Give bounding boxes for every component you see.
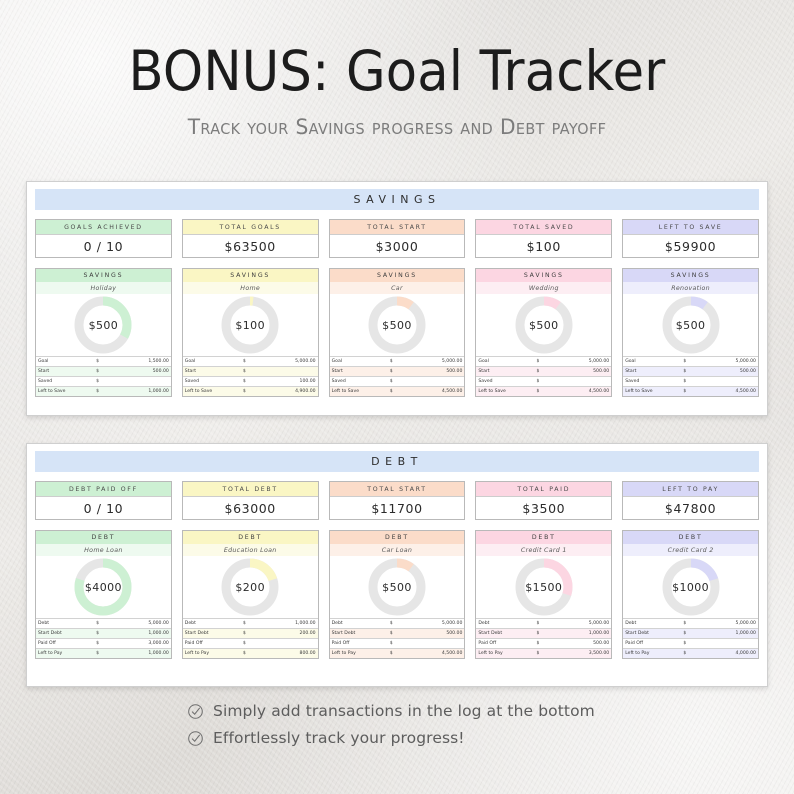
row-currency: $: [535, 377, 554, 387]
donut-center-amount: $500: [366, 556, 428, 618]
row-amount: 5,000.00: [553, 357, 611, 367]
debt-cards-row: DEBTHome Loan$4000Debt$5,000.00Start Deb…: [35, 530, 759, 659]
row-label: Goal: [330, 357, 388, 367]
donut-chart: $100: [219, 294, 281, 356]
debt-panel: DEBT DEBT PAID OFF0 / 10TOTAL DEBT$63000…: [26, 443, 768, 687]
savings-summary-row: GOALS ACHIEVED0 / 10TOTAL GOALS$63500TOT…: [35, 219, 759, 258]
donut-chart: $200: [219, 556, 281, 618]
row-label: Left to Pay: [476, 649, 534, 659]
row-currency: $: [94, 639, 113, 649]
goal-card-credit-card-2: DEBTCredit Card 2$1000Debt$5,000.00Start…: [622, 530, 759, 659]
donut-chart-wrap: $100: [183, 294, 318, 356]
row-currency: $: [535, 367, 554, 377]
goal-card-home-loan: DEBTHome Loan$4000Debt$5,000.00Start Deb…: [35, 530, 172, 659]
row-label: Goal: [476, 357, 534, 367]
row-amount: 1,000.00: [700, 629, 758, 639]
donut-chart: $500: [366, 294, 428, 356]
row-currency: $: [241, 649, 260, 659]
row-currency: $: [388, 357, 407, 367]
row-label: Goal: [183, 357, 241, 367]
row-amount: 4,500.00: [553, 387, 611, 397]
row-amount: 4,500.00: [406, 387, 464, 397]
summary-card-value: $63500: [183, 235, 318, 257]
table-row: Left to Pay$4,000.00: [623, 649, 758, 659]
table-row: Left to Save$4,900.00: [183, 387, 318, 397]
table-row: Start Debt$1,000.00: [36, 629, 171, 639]
check-circle-icon: [187, 730, 204, 747]
goal-card-type: DEBT: [330, 531, 465, 544]
row-label: Paid Off: [330, 639, 388, 649]
goal-card-name: Credit Card 1: [476, 544, 611, 556]
page-header: BONUS: Goal Tracker Track your Savings p…: [0, 44, 794, 139]
goal-card-car-loan: DEBTCar Loan$500Debt$5,000.00Start Debt$…: [329, 530, 466, 659]
row-currency: $: [681, 639, 700, 649]
row-label: Left to Pay: [183, 649, 241, 659]
row-amount: 500.00: [553, 367, 611, 377]
goal-card-table: Goal$1,500.00Start$500.00Saved$Left to S…: [36, 356, 171, 396]
row-amount: 4,000.00: [700, 649, 758, 659]
goal-card-table: Goal$5,000.00Start$500.00Saved$Left to S…: [476, 356, 611, 396]
table-row: Saved$100.00: [183, 377, 318, 387]
check-circle-icon: [187, 703, 204, 720]
donut-chart: $500: [72, 294, 134, 356]
table-row: Paid Off$500.00: [476, 639, 611, 649]
row-amount: 1,000.00: [553, 629, 611, 639]
summary-card-total-start: TOTAL START$11700: [329, 481, 466, 520]
goal-card-table: Goal$5,000.00Start$500.00Saved$Left to S…: [623, 356, 758, 396]
donut-chart: $1500: [513, 556, 575, 618]
goal-card-type: DEBT: [623, 531, 758, 544]
table-row: Left to Pay$1,000.00: [36, 649, 171, 659]
row-label: Start: [623, 367, 681, 377]
row-currency: $: [681, 629, 700, 639]
table-row: Start$500.00: [476, 367, 611, 377]
summary-card-total-debt: TOTAL DEBT$63000: [182, 481, 319, 520]
row-currency: $: [535, 387, 554, 397]
row-currency: $: [388, 377, 407, 387]
table-row: Start$500.00: [36, 367, 171, 377]
table-row: Left to Save$4,500.00: [476, 387, 611, 397]
row-currency: $: [94, 357, 113, 367]
table-row: Debt$5,000.00: [36, 619, 171, 629]
row-label: Saved: [183, 377, 241, 387]
row-label: Start: [183, 367, 241, 377]
footer-bullet: Effortlessly track your progress!: [187, 729, 607, 747]
summary-card-total-start: TOTAL START$3000: [329, 219, 466, 258]
row-amount: 1,000.00: [113, 649, 171, 659]
goal-card-wedding: SAVINGSWedding$500Goal$5,000.00Start$500…: [475, 268, 612, 397]
goal-card-holiday: SAVINGSHoliday$500Goal$1,500.00Start$500…: [35, 268, 172, 397]
row-label: Start Debt: [623, 629, 681, 639]
row-amount: [700, 639, 758, 649]
donut-chart-wrap: $500: [476, 294, 611, 356]
row-currency: $: [388, 367, 407, 377]
row-label: Debt: [330, 619, 388, 629]
summary-card-value: 0 / 10: [36, 497, 171, 519]
table-row: Debt$5,000.00: [330, 619, 465, 629]
donut-chart-wrap: $500: [330, 556, 465, 618]
donut-chart-wrap: $200: [183, 556, 318, 618]
row-amount: 5,000.00: [700, 619, 758, 629]
goal-card-table: Debt$5,000.00Start Debt$1,000.00Paid Off…: [476, 618, 611, 658]
goal-card-table: Debt$5,000.00Start Debt$1,000.00Paid Off…: [623, 618, 758, 658]
row-currency: $: [388, 387, 407, 397]
summary-card-value: $63000: [183, 497, 318, 519]
row-amount: 500.00: [553, 639, 611, 649]
summary-card-label: TOTAL SAVED: [476, 220, 611, 235]
table-row: Saved$: [36, 377, 171, 387]
row-label: Paid Off: [476, 639, 534, 649]
row-label: Goal: [36, 357, 94, 367]
row-amount: 500.00: [700, 367, 758, 377]
row-label: Debt: [36, 619, 94, 629]
row-amount: 1,500.00: [113, 357, 171, 367]
table-row: Left to Save$4,500.00: [330, 387, 465, 397]
goal-card-name: Holiday: [36, 282, 171, 294]
goal-card-type: DEBT: [476, 531, 611, 544]
row-amount: 4,500.00: [700, 387, 758, 397]
row-amount: [113, 377, 171, 387]
summary-card-goals-achieved: GOALS ACHIEVED0 / 10: [35, 219, 172, 258]
summary-card-value: $47800: [623, 497, 758, 519]
row-currency: $: [241, 357, 260, 367]
goal-card-table: Goal$5,000.00Start$500.00Saved$Left to S…: [330, 356, 465, 396]
table-row: Start$500.00: [623, 367, 758, 377]
row-amount: 100.00: [259, 377, 317, 387]
summary-card-total-saved: TOTAL SAVED$100: [475, 219, 612, 258]
summary-card-value: $59900: [623, 235, 758, 257]
row-currency: $: [94, 367, 113, 377]
page-title: BONUS: Goal Tracker: [28, 44, 766, 99]
row-amount: 3,500.00: [553, 649, 611, 659]
row-currency: $: [681, 357, 700, 367]
summary-card-label: TOTAL START: [330, 482, 465, 497]
row-currency: $: [388, 619, 407, 629]
summary-card-label: TOTAL PAID: [476, 482, 611, 497]
table-row: Saved$: [330, 377, 465, 387]
row-label: Left to Save: [36, 387, 94, 397]
row-label: Goal: [623, 357, 681, 367]
row-currency: $: [94, 387, 113, 397]
row-amount: 5,000.00: [700, 357, 758, 367]
donut-chart-wrap: $500: [623, 294, 758, 356]
summary-card-left-to-save: LEFT TO SAVE$59900: [622, 219, 759, 258]
table-row: Left to Save$1,000.00: [36, 387, 171, 397]
donut-chart-wrap: $500: [330, 294, 465, 356]
row-currency: $: [94, 629, 113, 639]
donut-center-amount: $200: [219, 556, 281, 618]
row-currency: $: [241, 619, 260, 629]
row-label: Start Debt: [330, 629, 388, 639]
donut-center-amount: $4000: [72, 556, 134, 618]
goal-card-table: Goal$5,000.00Start$Saved$100.00Left to S…: [183, 356, 318, 396]
donut-center-amount: $500: [72, 294, 134, 356]
row-label: Start Debt: [36, 629, 94, 639]
row-label: Start Debt: [476, 629, 534, 639]
donut-center-amount: $500: [660, 294, 722, 356]
row-label: Saved: [36, 377, 94, 387]
row-currency: $: [94, 649, 113, 659]
row-amount: 4,500.00: [406, 649, 464, 659]
row-label: Saved: [330, 377, 388, 387]
row-currency: $: [388, 649, 407, 659]
summary-card-label: LEFT TO PAY: [623, 482, 758, 497]
summary-card-label: TOTAL DEBT: [183, 482, 318, 497]
savings-panel: SAVINGS GOALS ACHIEVED0 / 10TOTAL GOALS$…: [26, 181, 768, 416]
goal-card-renovation: SAVINGSRenovation$500Goal$5,000.00Start$…: [622, 268, 759, 397]
row-currency: $: [535, 649, 554, 659]
table-row: Start$500.00: [330, 367, 465, 377]
goal-card-name: Wedding: [476, 282, 611, 294]
summary-card-label: DEBT PAID OFF: [36, 482, 171, 497]
row-currency: $: [241, 367, 260, 377]
row-currency: $: [388, 629, 407, 639]
row-label: Saved: [476, 377, 534, 387]
table-row: Goal$5,000.00: [623, 357, 758, 367]
row-currency: $: [241, 387, 260, 397]
row-currency: $: [681, 367, 700, 377]
row-currency: $: [241, 629, 260, 639]
goal-card-name: Car Loan: [330, 544, 465, 556]
summary-card-value: $100: [476, 235, 611, 257]
row-currency: $: [681, 649, 700, 659]
goal-card-type: SAVINGS: [183, 269, 318, 282]
summary-card-left-to-pay: LEFT TO PAY$47800: [622, 481, 759, 520]
row-label: Left to Save: [183, 387, 241, 397]
summary-card-label: GOALS ACHIEVED: [36, 220, 171, 235]
row-label: Start: [330, 367, 388, 377]
table-row: Left to Pay$4,500.00: [330, 649, 465, 659]
table-row: Goal$5,000.00: [183, 357, 318, 367]
table-row: Start Debt$1,000.00: [476, 629, 611, 639]
footer-bullet: Simply add transactions in the log at th…: [187, 702, 607, 720]
donut-chart-wrap: $500: [36, 294, 171, 356]
page-subtitle: Track your Savings progress and Debt pay…: [16, 115, 778, 139]
summary-card-total-goals: TOTAL GOALS$63500: [182, 219, 319, 258]
table-row: Start Debt$500.00: [330, 629, 465, 639]
row-amount: [259, 367, 317, 377]
goal-card-name: Home: [183, 282, 318, 294]
row-currency: $: [94, 377, 113, 387]
row-amount: [259, 639, 317, 649]
table-row: Goal$1,500.00: [36, 357, 171, 367]
row-currency: $: [681, 387, 700, 397]
row-amount: 5,000.00: [259, 357, 317, 367]
goal-card-type: SAVINGS: [36, 269, 171, 282]
goal-card-table: Debt$1,000.00Start Debt$200.00Paid Off$L…: [183, 618, 318, 658]
row-label: Left to Pay: [330, 649, 388, 659]
row-currency: $: [535, 619, 554, 629]
table-row: Paid Off$: [330, 639, 465, 649]
row-currency: $: [681, 619, 700, 629]
summary-card-debt-paid-off: DEBT PAID OFF0 / 10: [35, 481, 172, 520]
donut-chart-wrap: $1500: [476, 556, 611, 618]
summary-card-value: $11700: [330, 497, 465, 519]
table-row: Start Debt$1,000.00: [623, 629, 758, 639]
row-currency: $: [388, 639, 407, 649]
table-row: Saved$: [476, 377, 611, 387]
table-row: Debt$5,000.00: [476, 619, 611, 629]
table-row: Saved$: [623, 377, 758, 387]
summary-card-total-paid: TOTAL PAID$3500: [475, 481, 612, 520]
savings-band: SAVINGS: [35, 189, 759, 210]
row-label: Left to Pay: [623, 649, 681, 659]
debt-summary-row: DEBT PAID OFF0 / 10TOTAL DEBT$63000TOTAL…: [35, 481, 759, 520]
row-currency: $: [241, 377, 260, 387]
row-currency: $: [535, 639, 554, 649]
goal-card-type: SAVINGS: [476, 269, 611, 282]
row-amount: 1,000.00: [259, 619, 317, 629]
row-amount: 1,000.00: [113, 629, 171, 639]
table-row: Goal$5,000.00: [476, 357, 611, 367]
goal-card-table: Debt$5,000.00Start Debt$500.00Paid Off$L…: [330, 618, 465, 658]
donut-center-amount: $1500: [513, 556, 575, 618]
table-row: Paid Off$: [183, 639, 318, 649]
summary-card-value: $3500: [476, 497, 611, 519]
row-label: Debt: [183, 619, 241, 629]
table-row: Debt$5,000.00: [623, 619, 758, 629]
table-row: Paid Off$3,000.00: [36, 639, 171, 649]
donut-center-amount: $500: [513, 294, 575, 356]
summary-card-label: LEFT TO SAVE: [623, 220, 758, 235]
row-label: Paid Off: [183, 639, 241, 649]
donut-chart-wrap: $1000: [623, 556, 758, 618]
goal-card-name: Renovation: [623, 282, 758, 294]
row-amount: [406, 639, 464, 649]
table-row: Debt$1,000.00: [183, 619, 318, 629]
donut-chart: $500: [660, 294, 722, 356]
row-label: Debt: [623, 619, 681, 629]
row-amount: [553, 377, 611, 387]
footer-bullet-text: Effortlessly track your progress!: [213, 729, 465, 747]
row-currency: $: [535, 357, 554, 367]
goal-card-table: Debt$5,000.00Start Debt$1,000.00Paid Off…: [36, 618, 171, 658]
summary-card-label: TOTAL START: [330, 220, 465, 235]
donut-chart: $500: [366, 556, 428, 618]
donut-chart: $500: [513, 294, 575, 356]
donut-chart: $4000: [72, 556, 134, 618]
donut-center-amount: $500: [366, 294, 428, 356]
summary-card-value: 0 / 10: [36, 235, 171, 257]
footer-bullets: Simply add transactions in the log at th…: [0, 702, 794, 756]
row-label: Start Debt: [183, 629, 241, 639]
row-label: Start: [36, 367, 94, 377]
footer-bullet-text: Simply add transactions in the log at th…: [213, 702, 595, 720]
row-amount: 5,000.00: [406, 357, 464, 367]
savings-cards-row: SAVINGSHoliday$500Goal$1,500.00Start$500…: [35, 268, 759, 397]
row-amount: 5,000.00: [406, 619, 464, 629]
row-amount: 4,900.00: [259, 387, 317, 397]
row-label: Paid Off: [36, 639, 94, 649]
row-currency: $: [241, 639, 260, 649]
table-row: Paid Off$: [623, 639, 758, 649]
goal-card-name: Home Loan: [36, 544, 171, 556]
row-amount: 5,000.00: [553, 619, 611, 629]
goal-card-name: Education Loan: [183, 544, 318, 556]
table-row: Start$: [183, 367, 318, 377]
table-row: Left to Save$4,500.00: [623, 387, 758, 397]
summary-card-label: TOTAL GOALS: [183, 220, 318, 235]
row-currency: $: [94, 619, 113, 629]
goal-card-education-loan: DEBTEducation Loan$200Debt$1,000.00Start…: [182, 530, 319, 659]
row-label: Saved: [623, 377, 681, 387]
row-label: Left to Pay: [36, 649, 94, 659]
goal-card-type: SAVINGS: [623, 269, 758, 282]
row-currency: $: [535, 629, 554, 639]
row-amount: [700, 377, 758, 387]
goal-card-home: SAVINGSHome$100Goal$5,000.00Start$Saved$…: [182, 268, 319, 397]
table-row: Left to Pay$800.00: [183, 649, 318, 659]
row-amount: 5,000.00: [113, 619, 171, 629]
row-amount: [406, 377, 464, 387]
row-amount: 500.00: [113, 367, 171, 377]
row-amount: 800.00: [259, 649, 317, 659]
goal-card-type: SAVINGS: [330, 269, 465, 282]
row-label: Start: [476, 367, 534, 377]
row-label: Debt: [476, 619, 534, 629]
donut-center-amount: $1000: [660, 556, 722, 618]
goal-card-name: Car: [330, 282, 465, 294]
goal-card-type: DEBT: [36, 531, 171, 544]
donut-center-amount: $100: [219, 294, 281, 356]
table-row: Left to Pay$3,500.00: [476, 649, 611, 659]
table-row: Start Debt$200.00: [183, 629, 318, 639]
debt-band: DEBT: [35, 451, 759, 472]
row-label: Paid Off: [623, 639, 681, 649]
row-label: Left to Save: [330, 387, 388, 397]
goal-card-credit-card-1: DEBTCredit Card 1$1500Debt$5,000.00Start…: [475, 530, 612, 659]
row-amount: 1,000.00: [113, 387, 171, 397]
row-amount: 500.00: [406, 367, 464, 377]
row-amount: 500.00: [406, 629, 464, 639]
donut-chart: $1000: [660, 556, 722, 618]
table-row: Goal$5,000.00: [330, 357, 465, 367]
summary-card-value: $3000: [330, 235, 465, 257]
goal-card-name: Credit Card 2: [623, 544, 758, 556]
donut-chart-wrap: $4000: [36, 556, 171, 618]
goal-card-type: DEBT: [183, 531, 318, 544]
row-currency: $: [681, 377, 700, 387]
row-amount: 3,000.00: [113, 639, 171, 649]
goal-card-car: SAVINGSCar$500Goal$5,000.00Start$500.00S…: [329, 268, 466, 397]
row-label: Left to Save: [476, 387, 534, 397]
row-label: Left to Save: [623, 387, 681, 397]
row-amount: 200.00: [259, 629, 317, 639]
